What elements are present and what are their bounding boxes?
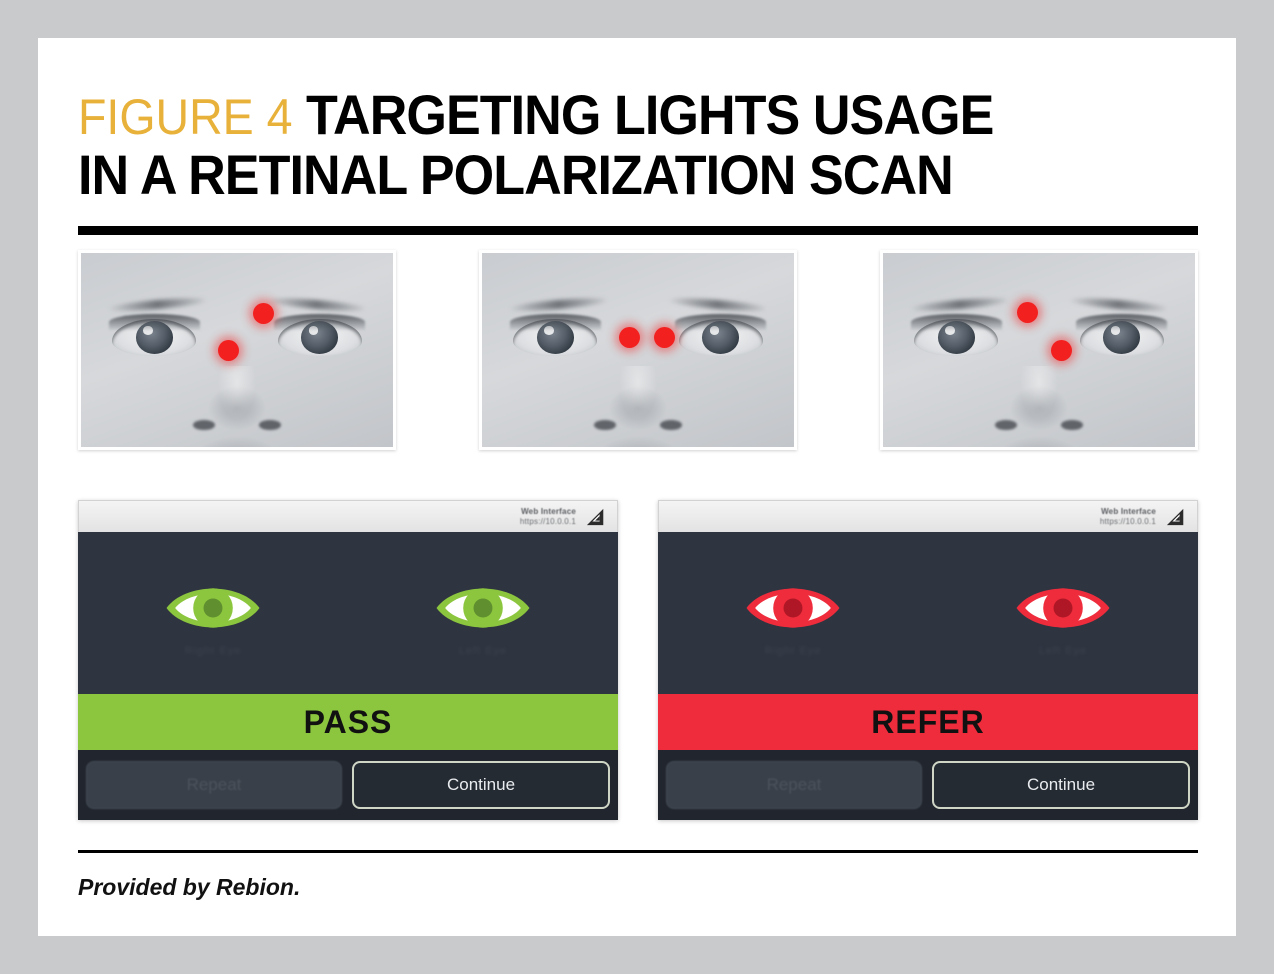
signal-icon	[585, 507, 607, 527]
photo-eye-right	[1080, 319, 1164, 356]
continue-button[interactable]: Continue	[352, 761, 610, 809]
title-divider-rule	[78, 226, 1198, 235]
face-photo-2	[482, 253, 794, 447]
nostril-left	[594, 420, 616, 430]
figure-caption: Provided by Rebion.	[78, 874, 300, 901]
targeting-dot	[654, 327, 675, 348]
eyebrow-right-icon	[268, 295, 365, 312]
title-text-line-1: TARGETING LIGHTS USAGE	[306, 83, 993, 146]
photo-eye-left	[513, 319, 597, 356]
photo-eye-right	[679, 319, 763, 356]
targeting-dot	[218, 340, 239, 361]
face-image-1	[81, 253, 393, 447]
eye-result-right-refer: Right Eye	[703, 577, 883, 658]
device-header-refer: Web Interface https://10.0.0.1	[658, 500, 1198, 532]
photo-frame-3	[880, 250, 1198, 450]
eye-icon	[741, 577, 845, 639]
status-badge-pass: PASS	[78, 694, 618, 750]
eye-icon	[431, 577, 535, 639]
continue-button[interactable]: Continue	[932, 761, 1190, 809]
face-image-2	[482, 253, 794, 447]
caption-divider-rule	[78, 850, 1198, 853]
repeat-button[interactable]: Repeat	[86, 761, 342, 809]
eye-caption: Left Eye	[1039, 645, 1087, 658]
web-interface-label: Web Interface	[1100, 507, 1156, 517]
title-line-2: IN A RETINAL POLARIZATION SCAN	[78, 146, 1120, 204]
title-line-1: FIGURE 4 TARGETING LIGHTS USAGE	[78, 86, 1120, 146]
figure-number-label: FIGURE 4	[78, 89, 292, 145]
nostril-left	[193, 420, 215, 430]
status-badge-refer: REFER	[658, 694, 1198, 750]
targeting-dot	[1051, 340, 1072, 361]
photo-frame-2	[479, 250, 797, 450]
repeat-button[interactable]: Repeat	[666, 761, 922, 809]
eye-icon	[161, 577, 265, 639]
device-footer-pass: Repeat Continue	[78, 750, 618, 820]
nostril-right	[1061, 420, 1083, 430]
device-footer-refer: Repeat Continue	[658, 750, 1198, 820]
targeting-dot	[253, 303, 274, 324]
eye-result-left-pass: Left Eye	[393, 577, 573, 658]
web-interface-address: https://10.0.0.1	[1100, 517, 1156, 527]
photo-eye-right	[278, 319, 362, 356]
face-image-3	[883, 253, 1195, 447]
photo-frame-1	[78, 250, 396, 450]
figure-page: FIGURE 4 TARGETING LIGHTS USAGE IN A RET…	[38, 38, 1236, 936]
eyebrow-left-icon	[109, 295, 206, 312]
targeting-dot	[1017, 302, 1038, 323]
nose-highlight	[619, 366, 656, 420]
eye-caption: Right Eye	[185, 645, 242, 658]
nose-highlight	[1020, 366, 1057, 420]
photo-eye-left	[914, 319, 998, 356]
eyebrow-left-icon	[510, 295, 607, 312]
signal-icon	[1165, 507, 1187, 527]
figure-title-block: FIGURE 4 TARGETING LIGHTS USAGE IN A RET…	[78, 86, 1198, 204]
eye-result-right-pass: Right Eye	[123, 577, 303, 658]
web-interface-address: https://10.0.0.1	[520, 517, 576, 527]
device-screenshot-row: Web Interface https://10.0.0.1	[78, 500, 1198, 820]
face-photo-3	[883, 253, 1195, 447]
targeting-dot	[619, 327, 640, 348]
device-body-refer: Right Eye Left Eye	[658, 532, 1198, 694]
eye-caption: Right Eye	[765, 645, 822, 658]
eye-caption: Left Eye	[459, 645, 507, 658]
eyebrow-left-icon	[911, 295, 1008, 312]
face-photo-1	[81, 253, 393, 447]
device-header-pass: Web Interface https://10.0.0.1	[78, 500, 618, 532]
targeting-light-photo-row	[78, 250, 1198, 458]
web-interface-info: Web Interface https://10.0.0.1	[1100, 507, 1156, 527]
device-body-pass: Right Eye Left Eye	[78, 532, 618, 694]
web-interface-info: Web Interface https://10.0.0.1	[520, 507, 576, 527]
nostril-right	[660, 420, 682, 430]
web-interface-label: Web Interface	[520, 507, 576, 517]
refer-result-screen: Web Interface https://10.0.0.1	[658, 500, 1198, 820]
photo-eye-left	[112, 319, 196, 356]
pass-result-screen: Web Interface https://10.0.0.1	[78, 500, 618, 820]
eyebrow-right-icon	[669, 295, 766, 312]
nostril-right	[259, 420, 281, 430]
nostril-left	[995, 420, 1017, 430]
eye-icon	[1011, 577, 1115, 639]
eyebrow-right-icon	[1070, 295, 1167, 312]
nose-highlight	[218, 366, 255, 420]
eye-result-left-refer: Left Eye	[973, 577, 1153, 658]
